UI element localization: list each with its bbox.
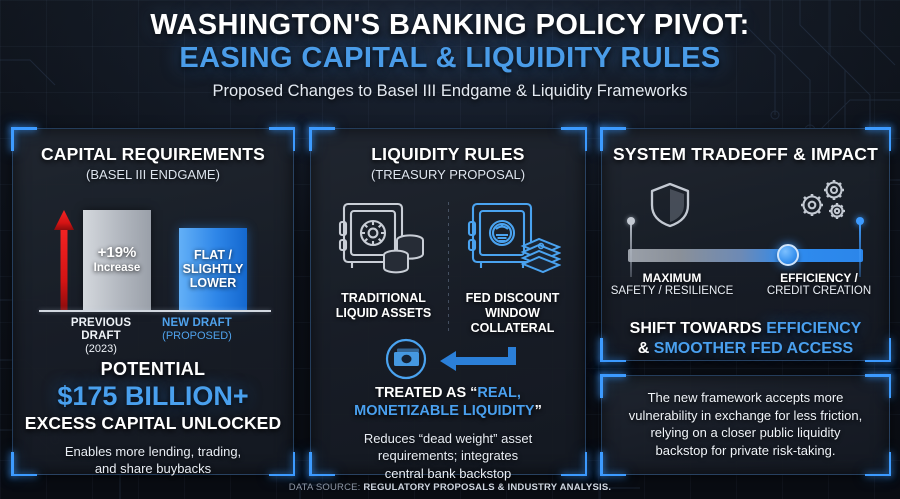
bar-new-line2: SLIGHTLY <box>183 262 244 276</box>
treated-highlight-line1: REAL, <box>477 385 521 401</box>
capital-note: Enables more lending, trading, and share… <box>13 443 293 477</box>
red-up-arrow-icon <box>53 208 75 310</box>
liquidity-fed-caption: FED DISCOUNT WINDOW COLLATERAL <box>454 291 572 335</box>
capital-note-line2: and share buybacks <box>95 461 211 476</box>
chart-category-labels: PREVIOUS DRAFT (2023) NEW DRAFT (PROPOSE… <box>31 317 275 347</box>
page-title-line2: EASING CAPITAL & LIQUIDITY RULES <box>0 42 900 74</box>
liquidity-traditional-caption: TRADITIONAL LIQUID ASSETS <box>325 291 443 321</box>
gears-icon <box>793 177 851 229</box>
panel-liquidity-rules: LIQUIDITY RULES (TREASURY PROPOSAL) <box>310 128 586 475</box>
treated-prefix: TREATED AS “ <box>375 385 477 401</box>
slider-endpoint-dot-left <box>627 217 635 225</box>
slider-left-line2: SAFETY / RESILIENCE <box>606 285 738 299</box>
slider-right-line1: EFFICIENCY / <box>753 271 885 285</box>
chart-baseline-axis <box>39 310 271 312</box>
liquidity-note-line2: requirements; integrates <box>378 448 518 463</box>
stat-amount: $175 BILLION+ <box>13 381 293 412</box>
infographic-root: WASHINGTON'S BANKING POLICY PIVOT: EASIN… <box>0 0 900 499</box>
bar-previous-draft: +19% Increase <box>83 210 151 310</box>
tradeoff-slider-area: MAXIMUM SAFETY / RESILIENCE EFFICIENCY /… <box>602 175 889 293</box>
slider-right-line2: CREDIT CREATION <box>753 285 885 299</box>
liquidity-note-line3: central bank backstop <box>385 466 511 481</box>
shift-statement: SHIFT TOWARDS EFFICIENCY & SMOOTHER FED … <box>602 319 889 359</box>
treated-highlight-line2: MONETIZABLE LIQUIDITY <box>354 403 534 419</box>
liquidity-fed-line2: WINDOW <box>485 306 540 320</box>
category-previous-line1: PREVIOUS DRAFT <box>51 317 151 343</box>
panel-tradeoff-title: SYSTEM TRADEOFF & IMPACT <box>602 144 889 165</box>
category-new-line2: (PROPOSED) <box>147 330 247 342</box>
slider-endpoint-dot-right <box>856 217 864 225</box>
liquidity-sources: TRADITIONAL LIQUID ASSETS <box>311 198 585 335</box>
summary-line2: vulnerability in exchange for less frict… <box>629 408 862 423</box>
money-arrow-row <box>311 337 585 381</box>
shift-prefix: SHIFT TOWARDS <box>630 320 767 337</box>
category-new-line1: NEW DRAFT <box>147 317 247 330</box>
slider-label-efficiency: EFFICIENCY / CREDIT CREATION <box>753 271 885 299</box>
shield-icon <box>648 181 692 229</box>
stat-potential-label: POTENTIAL <box>13 359 293 380</box>
safe-with-coins-icon <box>336 198 432 280</box>
liquidity-divider <box>448 202 449 332</box>
category-label-previous-draft: PREVIOUS DRAFT (2023) <box>51 317 151 355</box>
shift-ampersand: & <box>638 340 654 357</box>
shift-highlight-fed-access: SMOOTHER FED ACCESS <box>654 340 853 357</box>
footer-label: DATA SOURCE: <box>289 482 364 493</box>
footer-data-source: DATA SOURCE: REGULATORY PROPOSALS & INDU… <box>0 482 900 493</box>
liquidity-traditional-line1: TRADITIONAL <box>341 291 426 305</box>
treated-suffix: ” <box>535 403 542 419</box>
liquidity-note-line1: Reduces “dead weight” asset <box>364 431 532 446</box>
shift-highlight-efficiency: EFFICIENCY <box>766 320 861 337</box>
left-arrow-icon <box>440 347 516 371</box>
panel-liquidity-title: LIQUIDITY RULES <box>311 144 585 165</box>
summary-line4: backstop for private risk-taking. <box>656 443 836 458</box>
bar-new-line1: FLAT / <box>194 248 232 262</box>
panel-system-tradeoff: SYSTEM TRADEOFF & IMPACT <box>601 128 890 361</box>
bar-new-draft-label: FLAT / SLIGHTLY LOWER <box>179 248 247 290</box>
tradeoff-slider[interactable] <box>628 245 863 247</box>
header: WASHINGTON'S BANKING POLICY PIVOT: EASIN… <box>0 10 900 101</box>
bar-previous-draft-label: +19% Increase <box>83 245 151 275</box>
bar-previous-sublabel: Increase <box>83 262 151 275</box>
category-label-new-draft: NEW DRAFT (PROPOSED) <box>147 317 247 342</box>
bar-new-draft: FLAT / SLIGHTLY LOWER <box>179 228 247 310</box>
safe-with-cash-fed-seal-icon <box>465 198 561 280</box>
treated-as-block: TREATED AS “REAL, MONETIZABLE LIQUIDITY”… <box>311 337 585 482</box>
slider-left-line1: MAXIMUM <box>606 271 738 285</box>
treated-as-text: TREATED AS “REAL, MONETIZABLE LIQUIDITY” <box>311 385 585 420</box>
capital-stat-block: POTENTIAL $175 BILLION+ EXCESS CAPITAL U… <box>13 359 293 477</box>
bar-previous-value: +19% <box>98 244 137 261</box>
summary-line1: The new framework accepts more <box>648 390 844 405</box>
summary-text: The new framework accepts more vulnerabi… <box>602 376 889 459</box>
page-subtitle: Proposed Changes to Basel III Endgame & … <box>0 82 900 101</box>
slider-track[interactable] <box>628 249 863 262</box>
panel-summary: The new framework accepts more vulnerabi… <box>601 375 890 475</box>
bar-new-line3: LOWER <box>190 276 237 290</box>
capital-bar-chart: +19% Increase FLAT / SLIGHTLY LOWER <box>31 200 275 312</box>
slider-tick-right <box>859 221 861 277</box>
banknote-and-arrow-group <box>360 337 536 381</box>
stat-unlocked-label: EXCESS CAPITAL UNLOCKED <box>13 413 293 434</box>
summary-line3: relying on a closer public liquidity <box>650 425 840 440</box>
category-previous-line2: (2023) <box>51 343 151 355</box>
footer-value: REGULATORY PROPOSALS & INDUSTRY ANALYSIS… <box>363 482 611 493</box>
slider-label-maximum-safety: MAXIMUM SAFETY / RESILIENCE <box>606 271 738 299</box>
liquidity-fed-line1: FED DISCOUNT <box>466 291 560 305</box>
slider-tick-left <box>630 221 632 277</box>
liquidity-fed-line3: COLLATERAL <box>471 321 555 335</box>
panel-capital-title: CAPITAL REQUIREMENTS <box>13 144 293 165</box>
panel-capital-subtitle: (BASEL III ENDGAME) <box>13 167 293 182</box>
capital-note-line1: Enables more lending, trading, <box>65 444 241 459</box>
page-title-line1: WASHINGTON'S BANKING POLICY PIVOT: <box>0 10 900 41</box>
liquidity-item-traditional: TRADITIONAL LIQUID ASSETS <box>325 198 443 335</box>
panel-liquidity-subtitle: (TREASURY PROPOSAL) <box>311 167 585 182</box>
panel-capital-requirements: CAPITAL REQUIREMENTS (BASEL III ENDGAME)… <box>12 128 294 475</box>
liquidity-item-fed-discount: FED DISCOUNT WINDOW COLLATERAL <box>454 198 572 335</box>
liquidity-traditional-line2: LIQUID ASSETS <box>336 306 431 320</box>
liquidity-note: Reduces “dead weight” asset requirements… <box>311 430 585 482</box>
banknote-icon <box>394 349 419 367</box>
slider-knob[interactable] <box>777 244 799 266</box>
